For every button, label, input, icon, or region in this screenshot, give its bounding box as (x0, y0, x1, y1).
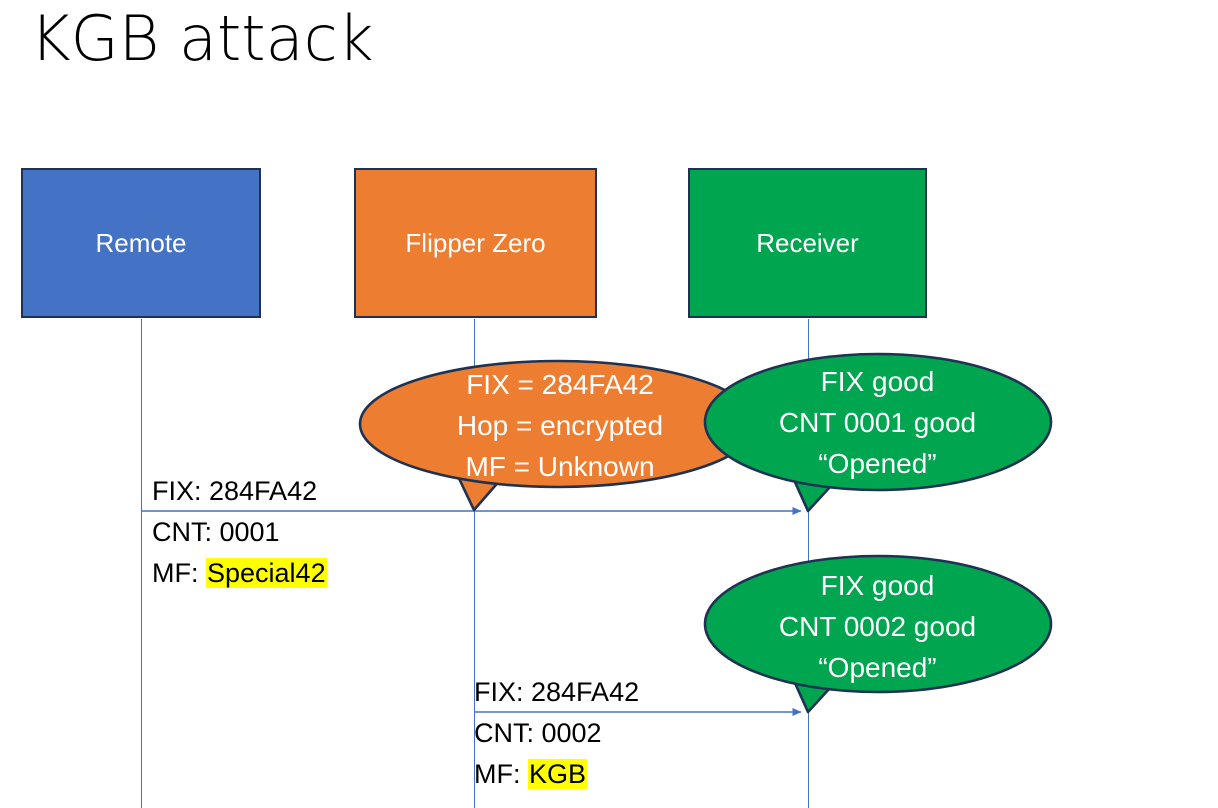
callout-flipper-line-1: FIX = 284FA42 (400, 364, 720, 405)
message-2-mf-value: KGB (528, 759, 587, 789)
message-2-cnt: CNT: 0002 (474, 713, 639, 754)
message-1-mf: MF: Special42 (152, 553, 327, 594)
callout-flipper-line-3: MF = Unknown (400, 446, 720, 487)
message-2-mf-label: MF: (474, 759, 528, 789)
message-2-fix: FIX: 284FA42 (474, 672, 639, 713)
message-label-1: FIX: 284FA42 CNT: 0001 MF: Special42 (152, 471, 327, 594)
page-title: KGB attack (30, 2, 374, 75)
actor-box-receiver[interactable]: Receiver (688, 168, 927, 318)
callout-receiver-2-line-2: CNT 0002 good (730, 606, 1025, 647)
callout-label-receiver-2: FIX good CNT 0002 good “Opened” (730, 565, 1025, 688)
actor-box-flipper[interactable]: Flipper Zero (354, 168, 597, 318)
callout-label-receiver-1: FIX good CNT 0001 good “Opened” (730, 361, 1025, 484)
actor-label-receiver: Receiver (756, 228, 859, 259)
callout-receiver-1-line-1: FIX good (730, 361, 1025, 402)
callout-receiver-1-line-3: “Opened” (730, 443, 1025, 484)
message-1-mf-value: Special42 (206, 558, 327, 588)
callout-receiver-2-line-3: “Opened” (730, 647, 1025, 688)
callout-label-flipper: FIX = 284FA42 Hop = encrypted MF = Unkno… (400, 364, 720, 487)
message-label-2: FIX: 284FA42 CNT: 0002 MF: KGB (474, 672, 639, 795)
slide-canvas: KGB attack Remote Flipper Zero Receiver (0, 0, 1218, 808)
actor-box-remote[interactable]: Remote (21, 168, 261, 318)
message-1-fix: FIX: 284FA42 (152, 471, 327, 512)
message-2-mf: MF: KGB (474, 754, 639, 795)
message-1-cnt: CNT: 0001 (152, 512, 327, 553)
callout-receiver-2-line-1: FIX good (730, 565, 1025, 606)
actor-label-flipper: Flipper Zero (405, 228, 545, 259)
callout-flipper-line-2: Hop = encrypted (400, 405, 720, 446)
actor-label-remote: Remote (95, 228, 186, 259)
callout-receiver-1-line-2: CNT 0001 good (730, 402, 1025, 443)
lifeline-remote (141, 319, 142, 808)
message-1-mf-label: MF: (152, 558, 206, 588)
